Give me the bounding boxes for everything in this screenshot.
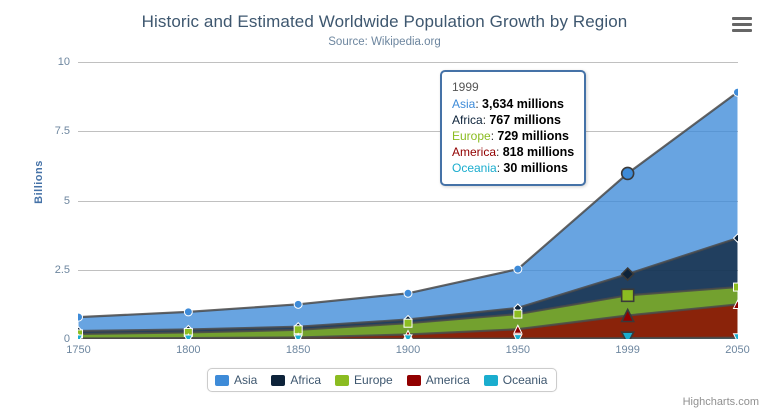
tooltip-row: Europe: 729 millions xyxy=(452,128,574,144)
highcharts-credits[interactable]: Highcharts.com xyxy=(683,396,759,408)
menu-bar xyxy=(732,17,752,20)
x-axis-tick-label: 1900 xyxy=(378,344,438,356)
tooltip-series-name: Asia xyxy=(452,97,475,111)
legend-item-label: America xyxy=(426,373,470,387)
data-point-europe-2050[interactable] xyxy=(734,283,739,291)
tooltip-separator: : xyxy=(475,97,482,111)
data-point-oceania-1800[interactable] xyxy=(184,335,192,339)
y-axis-tick-label: 2.5 xyxy=(55,264,70,276)
legend-item-europe[interactable]: Europe xyxy=(335,373,393,387)
legend-item-label: Africa xyxy=(290,373,321,387)
data-point-asia-2050[interactable] xyxy=(734,88,739,96)
x-axis-tick-label: 2050 xyxy=(708,344,768,356)
data-point-asia-1750[interactable] xyxy=(78,313,83,321)
menu-bar xyxy=(732,29,752,32)
tooltip-series-value: 818 millions xyxy=(503,145,575,159)
legend-item-label: Oceania xyxy=(503,373,548,387)
tooltip-row: Africa: 767 millions xyxy=(452,112,574,128)
legend-swatch-icon xyxy=(215,375,229,386)
chart-legend: AsiaAfricaEuropeAmericaOceania xyxy=(207,368,557,392)
legend-swatch-icon xyxy=(484,375,498,386)
legend-item-america[interactable]: America xyxy=(407,373,470,387)
data-point-asia-1999[interactable] xyxy=(622,167,634,179)
data-point-asia-1900[interactable] xyxy=(404,289,412,297)
legend-swatch-icon xyxy=(335,375,349,386)
data-point-europe-1900[interactable] xyxy=(404,319,412,327)
highcharts-container: Historic and Estimated Worldwide Populat… xyxy=(0,0,769,416)
tooltip-row: America: 818 millions xyxy=(452,144,574,160)
x-axis-tick-label: 1850 xyxy=(268,344,328,356)
legend-item-asia[interactable]: Asia xyxy=(215,373,257,387)
y-axis-tick-label: 5 xyxy=(64,195,70,207)
tooltip-series-value: 767 millions xyxy=(489,113,561,127)
tooltip-row: Asia: 3,634 millions xyxy=(452,96,574,112)
chart-title: Historic and Estimated Worldwide Populat… xyxy=(0,12,769,32)
hamburger-menu-icon[interactable] xyxy=(729,14,755,36)
legend-item-label: Asia xyxy=(234,373,257,387)
tooltip-series-name: Europe xyxy=(452,129,491,143)
tooltip-series-name: Africa xyxy=(452,113,483,127)
x-axis-tick-label: 1800 xyxy=(158,344,218,356)
data-point-europe-1999[interactable] xyxy=(622,289,634,301)
tooltip-header: 1999 xyxy=(452,79,574,96)
tooltip-series-name: Oceania xyxy=(452,161,497,175)
legend-item-label: Europe xyxy=(354,373,393,387)
tooltip-rows: Asia: 3,634 millionsAfrica: 767 millions… xyxy=(452,96,574,176)
x-axis-tick-label: 1750 xyxy=(49,344,109,356)
tooltip-separator: : xyxy=(496,145,503,159)
x-axis-tick-label: 1999 xyxy=(598,344,658,356)
y-axis-tick-label: 10 xyxy=(58,56,70,68)
plot-area xyxy=(78,62,738,339)
data-point-asia-1950[interactable] xyxy=(514,265,522,273)
legend-swatch-icon xyxy=(271,375,285,386)
data-point-asia-1800[interactable] xyxy=(184,308,192,316)
data-point-oceania-1850[interactable] xyxy=(294,335,302,339)
menu-bar xyxy=(732,23,752,26)
y-axis-tick-label: 0 xyxy=(64,333,70,345)
legend-swatch-icon xyxy=(407,375,421,386)
tooltip-row: Oceania: 30 millions xyxy=(452,160,574,176)
data-point-asia-1850[interactable] xyxy=(294,300,302,308)
tooltip-series-value: 30 millions xyxy=(503,161,568,175)
tooltip-series-name: America xyxy=(452,145,496,159)
tooltip-series-value: 3,634 millions xyxy=(482,97,564,111)
y-axis-tick-label: 7.5 xyxy=(55,125,70,137)
tooltip-series-value: 729 millions xyxy=(497,129,569,143)
y-axis-title: Billions xyxy=(33,160,45,204)
legend-item-africa[interactable]: Africa xyxy=(271,373,321,387)
chart-subtitle: Source: Wikipedia.org xyxy=(0,36,769,48)
x-axis-tick-label: 1950 xyxy=(488,344,548,356)
data-point-europe-1950[interactable] xyxy=(514,310,522,318)
tooltip: 1999 Asia: 3,634 millionsAfrica: 767 mil… xyxy=(440,70,586,186)
legend-item-oceania[interactable]: Oceania xyxy=(484,373,548,387)
